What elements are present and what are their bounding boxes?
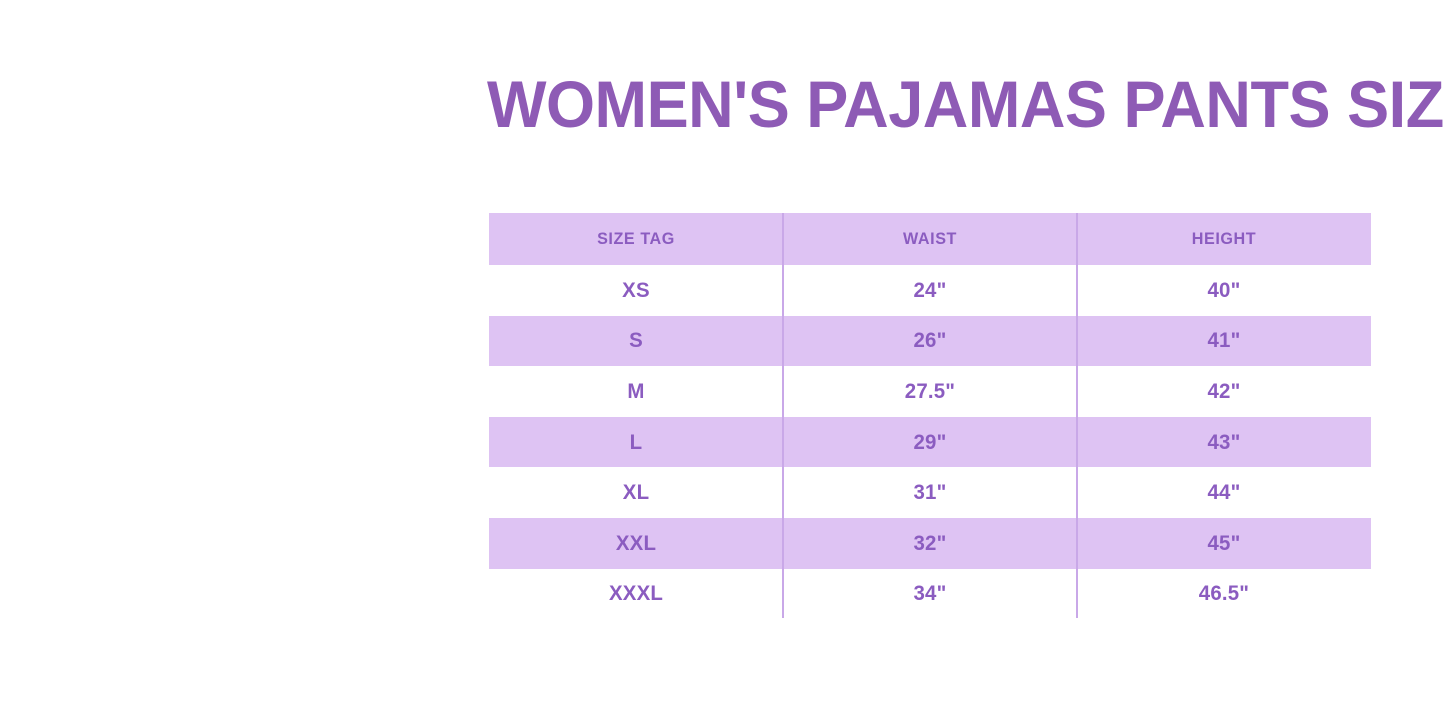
table-row: M 27.5" 42" <box>489 366 1371 417</box>
page-title: WOMEN'S PAJAMAS PANTS SIZE CHART <box>487 66 1410 142</box>
cell-height: 41" <box>1084 316 1363 367</box>
table-row: XXL 32" 45" <box>489 518 1371 569</box>
table-row: L 29" 43" <box>489 417 1371 468</box>
table-row: XXXL 34" 46.5" <box>489 569 1371 620</box>
cell-height: 43" <box>1084 417 1363 468</box>
cell-height: 44" <box>1084 467 1363 518</box>
cell-height: 42" <box>1084 366 1363 417</box>
cell-size-tag: XS <box>496 265 775 316</box>
cell-size-tag: M <box>496 366 775 417</box>
table-row: XS 24" 40" <box>489 265 1371 316</box>
cell-height: 45" <box>1084 518 1363 569</box>
cell-size-tag: XL <box>496 467 775 518</box>
cell-size-tag: L <box>496 417 775 468</box>
table-header-row: SIZE TAG WAIST HEIGHT <box>489 213 1371 265</box>
cell-height: 40" <box>1084 265 1363 316</box>
cell-height: 46.5" <box>1084 569 1363 620</box>
column-header-height: HEIGHT <box>1084 213 1363 265</box>
cell-waist: 27.5" <box>790 366 1069 417</box>
cell-waist: 32" <box>790 518 1069 569</box>
size-chart-page: WOMEN'S PAJAMAS PANTS SIZE CHART SIZE TA… <box>0 0 1445 723</box>
cell-waist: 26" <box>790 316 1069 367</box>
cell-waist: 29" <box>790 417 1069 468</box>
column-divider-line <box>782 213 784 618</box>
column-header-waist: WAIST <box>790 213 1069 265</box>
cell-size-tag: XXL <box>496 518 775 569</box>
cell-waist: 34" <box>790 569 1069 620</box>
cell-size-tag: XXXL <box>496 569 775 620</box>
column-divider-line <box>1076 213 1078 618</box>
table-row: XL 31" 44" <box>489 467 1371 518</box>
cell-size-tag: S <box>496 316 775 367</box>
table-row: S 26" 41" <box>489 316 1371 367</box>
cell-waist: 31" <box>790 467 1069 518</box>
size-chart-table: SIZE TAG WAIST HEIGHT XS 24" 40" S 26" 4… <box>489 213 1371 619</box>
column-header-size-tag: SIZE TAG <box>496 213 775 265</box>
cell-waist: 24" <box>790 265 1069 316</box>
